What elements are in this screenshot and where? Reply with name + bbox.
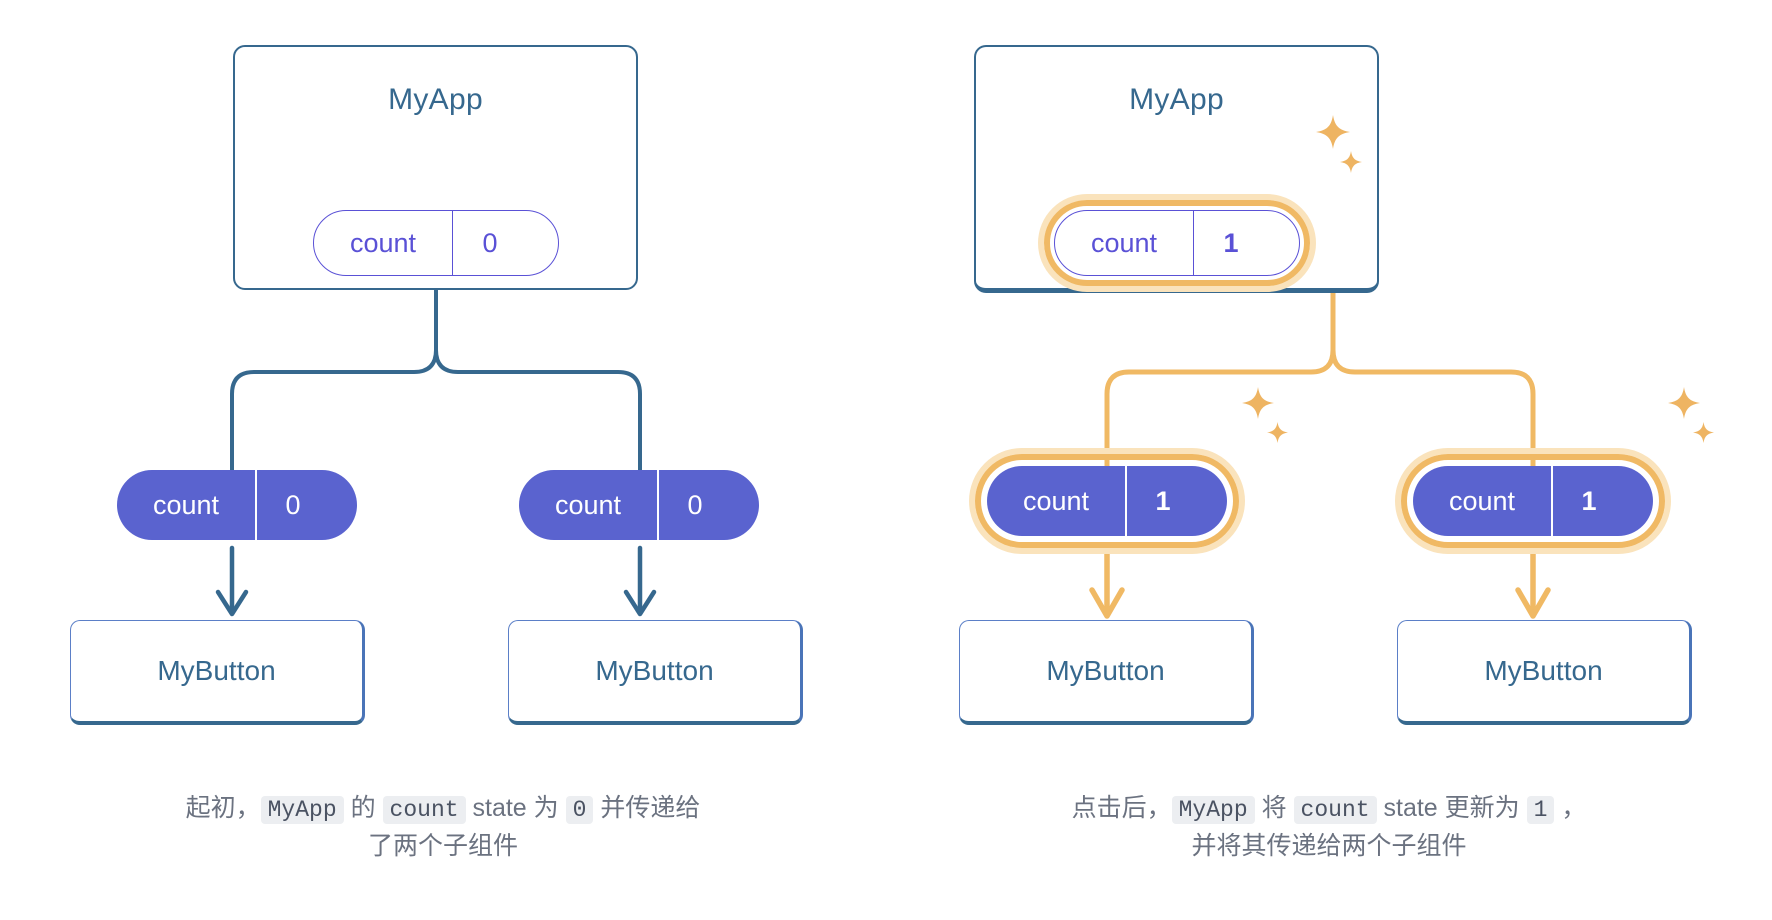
state-pill-key: count	[519, 470, 657, 540]
sparkle-four-point-large	[1242, 387, 1274, 419]
state-pill-count-child-2[interactable]: count 1	[1413, 466, 1653, 536]
state-pill-value: 1	[1125, 466, 1199, 536]
caption-line-2: 并将其传递给两个子组件	[1191, 832, 1466, 860]
state-pill-count-root[interactable]: count 0	[313, 210, 559, 276]
caption-text: state 为	[466, 794, 566, 822]
state-pill-key: count	[314, 211, 452, 275]
caption-text: 的	[344, 794, 383, 822]
caption-after-click: 点击后，MyApp 将 count state 更新为 1 ， 并将其传递给两个…	[949, 790, 1709, 865]
state-pill-key: count	[1413, 466, 1551, 536]
caption-code-myapp: MyApp	[1172, 796, 1255, 824]
sparkle-four-point-small	[1267, 422, 1288, 443]
component-card-mybutton-2[interactable]: MyButton	[1397, 620, 1692, 725]
caption-line-1: 起初，MyApp 的 count state 为 0 并传递给	[186, 794, 701, 822]
caption-code-value: 1	[1527, 796, 1555, 824]
state-pill-key: count	[117, 470, 255, 540]
caption-before-click: 起初，MyApp 的 count state 为 0 并传递给 了两个子组件	[63, 790, 823, 865]
caption-text: state 更新为	[1377, 794, 1527, 822]
caption-code-count: count	[1294, 796, 1377, 824]
component-card-mybutton-1[interactable]: MyButton	[959, 620, 1254, 725]
state-pill-value: 0	[452, 211, 527, 275]
state-pill-key: count	[1055, 211, 1193, 275]
caption-text: 将	[1255, 794, 1294, 822]
caption-text: 点击后，	[1072, 794, 1172, 822]
component-card-mybutton-1[interactable]: MyButton	[70, 620, 365, 725]
component-card-myapp[interactable]: MyApp count 0	[233, 45, 638, 290]
panel-before-click: MyApp count 0 count 0 count 0 MyButton M…	[0, 0, 886, 920]
component-card-myapp[interactable]: MyApp count 1	[974, 45, 1379, 293]
state-pill-value: 1	[1551, 466, 1625, 536]
caption-line-2: 了两个子组件	[368, 832, 518, 860]
component-title-myapp: MyApp	[235, 83, 636, 117]
component-card-mybutton-2[interactable]: MyButton	[508, 620, 803, 725]
state-pill-key: count	[987, 466, 1125, 536]
state-pill-count-root[interactable]: count 1	[1054, 210, 1300, 276]
caption-code-count: count	[383, 796, 466, 824]
caption-text: 起初，	[186, 794, 261, 822]
caption-code-myapp: MyApp	[261, 796, 344, 824]
state-pill-count-child-2[interactable]: count 0	[519, 470, 759, 540]
state-pill-value: 0	[255, 470, 329, 540]
state-pill-count-child-1[interactable]: count 0	[117, 470, 357, 540]
sparkle-four-point-small	[1340, 151, 1362, 173]
sparkle-four-point-large	[1316, 115, 1350, 149]
caption-text: ，	[1554, 794, 1586, 822]
state-pill-value: 1	[1193, 211, 1268, 275]
state-pill-value: 0	[657, 470, 731, 540]
diagram-canvas: MyApp count 0 count 0 count 0 MyButton M…	[0, 0, 1772, 920]
sparkle-four-point-small	[1693, 422, 1714, 443]
sparkle-four-point-large	[1668, 387, 1700, 419]
panel-after-click: MyApp count 1 count 1	[886, 0, 1772, 920]
state-pill-count-child-1[interactable]: count 1	[987, 466, 1227, 536]
caption-line-1: 点击后，MyApp 将 count state 更新为 1 ，	[1072, 794, 1587, 822]
caption-code-value: 0	[566, 796, 594, 824]
caption-text: 并传递给	[593, 794, 700, 822]
component-title-myapp: MyApp	[976, 83, 1377, 117]
